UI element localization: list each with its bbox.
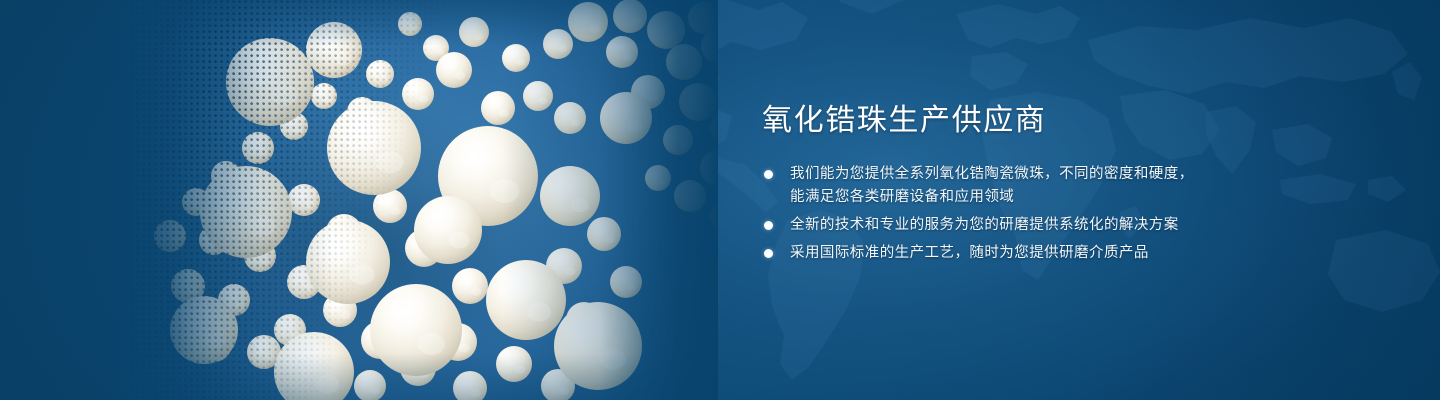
list-item: 全新的技术和专业的服务为您的研磨提供系统化的解决方案 bbox=[762, 214, 1282, 237]
list-item: 采用国际标准的生产工艺，随时为您提供研磨介质产品 bbox=[762, 242, 1282, 265]
zirconia-beads-photo bbox=[118, 0, 718, 400]
bullet-dot-icon bbox=[764, 170, 773, 179]
banner-content: 氧化锆珠生产供应商 我们能为您提供全系列氧化锆陶瓷微珠，不同的密度和硬度， 能满… bbox=[762, 104, 1282, 265]
page-title: 氧化锆珠生产供应商 bbox=[762, 104, 1282, 137]
bullet-dot-icon bbox=[764, 249, 773, 258]
bead-cluster bbox=[118, 0, 718, 400]
hero-banner: 氧化锆珠生产供应商 我们能为您提供全系列氧化锆陶瓷微珠，不同的密度和硬度， 能满… bbox=[0, 0, 1440, 400]
list-item: 我们能为您提供全系列氧化锆陶瓷微珠，不同的密度和硬度， 能满足您各类研磨设备和应… bbox=[762, 163, 1282, 209]
bullet-dot-icon bbox=[764, 221, 773, 230]
feature-list: 我们能为您提供全系列氧化锆陶瓷微珠，不同的密度和硬度， 能满足您各类研磨设备和应… bbox=[762, 163, 1282, 265]
list-item-line: 采用国际标准的生产工艺，随时为您提供研磨介质产品 bbox=[790, 242, 1282, 265]
list-item-line: 能满足您各类研磨设备和应用领域 bbox=[790, 186, 1282, 209]
list-item-line: 全新的技术和专业的服务为您的研磨提供系统化的解决方案 bbox=[790, 214, 1282, 237]
list-item-line: 我们能为您提供全系列氧化锆陶瓷微珠，不同的密度和硬度， bbox=[790, 163, 1282, 186]
